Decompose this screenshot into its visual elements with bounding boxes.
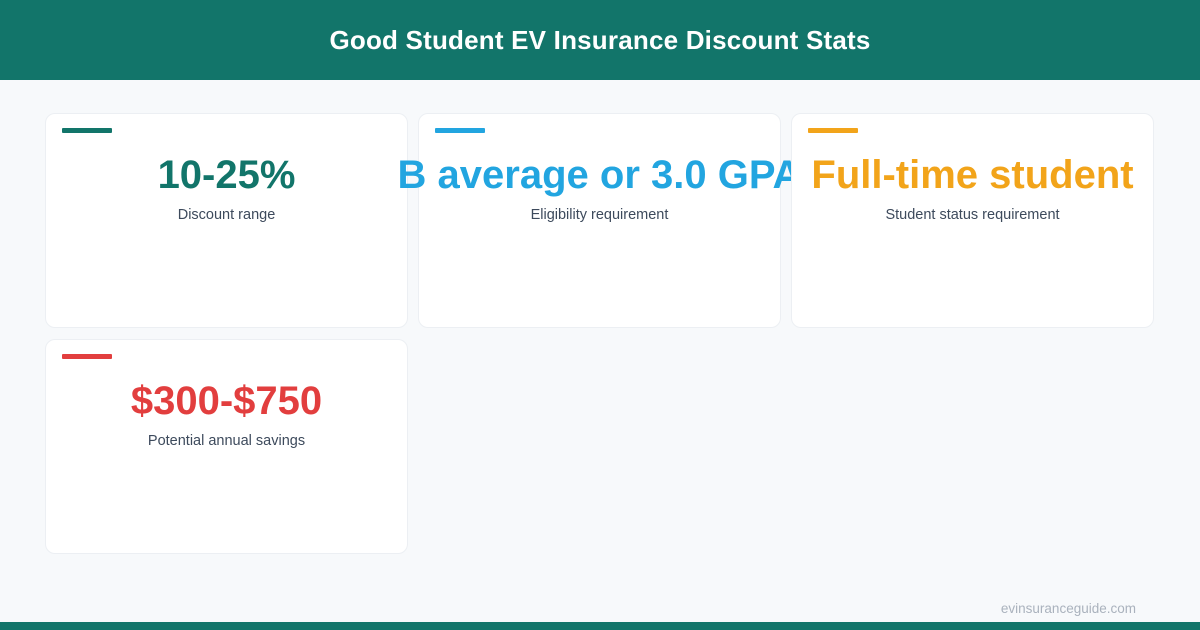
stat-value: B average or 3.0 GPA bbox=[398, 152, 802, 198]
stat-card-discount-range: 10-25% Discount range bbox=[45, 113, 408, 328]
accent-bar-icon bbox=[435, 128, 485, 133]
accent-bar-icon bbox=[62, 354, 112, 359]
stat-label: Student status requirement bbox=[885, 207, 1059, 223]
stats-row-2: $300-$750 Potential annual savings bbox=[45, 339, 1155, 554]
stat-label: Eligibility requirement bbox=[531, 207, 669, 223]
stat-value: $300-$750 bbox=[131, 378, 322, 424]
footer-accent-bar bbox=[0, 622, 1200, 630]
stat-card-annual-savings: $300-$750 Potential annual savings bbox=[45, 339, 408, 554]
stat-value: 10-25% bbox=[158, 152, 296, 198]
stat-card-eligibility-requirement: B average or 3.0 GPA Eligibility require… bbox=[418, 113, 781, 328]
page-header: Good Student EV Insurance Discount Stats bbox=[0, 0, 1200, 80]
stat-card-student-status: Full-time student Student status require… bbox=[791, 113, 1154, 328]
stat-label: Potential annual savings bbox=[148, 433, 305, 449]
page-title: Good Student EV Insurance Discount Stats bbox=[329, 25, 870, 56]
source-attribution: evinsuranceguide.com bbox=[1001, 601, 1136, 616]
stats-row-1: 10-25% Discount range B average or 3.0 G… bbox=[45, 113, 1155, 328]
stat-label: Discount range bbox=[178, 207, 276, 223]
accent-bar-icon bbox=[808, 128, 858, 133]
accent-bar-icon bbox=[62, 128, 112, 133]
stats-grid: 10-25% Discount range B average or 3.0 G… bbox=[0, 80, 1200, 585]
stat-value: Full-time student bbox=[811, 152, 1133, 198]
